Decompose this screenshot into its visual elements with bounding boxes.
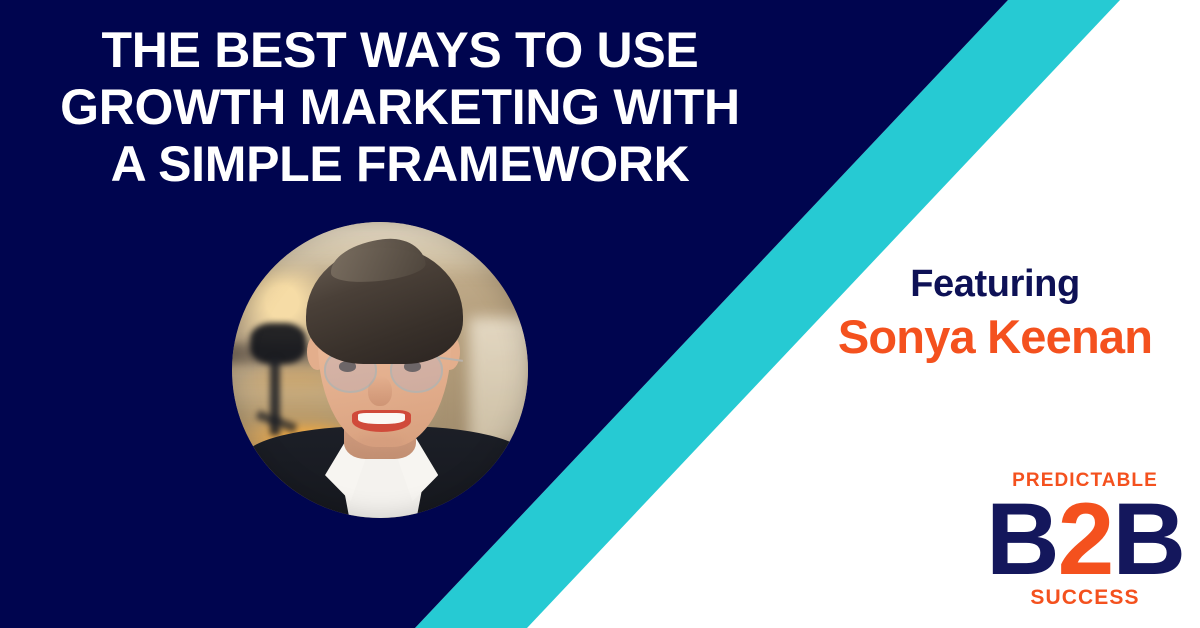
brand-logo: PREDICTABLE B2B SUCCESS xyxy=(985,470,1185,610)
logo-letter-b-left: B xyxy=(986,482,1058,596)
title-line-3: A SIMPLE FRAMEWORK xyxy=(0,136,800,193)
avatar-vignette xyxy=(232,222,528,518)
title-line-1: THE BEST WAYS TO USE xyxy=(0,22,800,79)
page-title: THE BEST WAYS TO USE GROWTH MARKETING WI… xyxy=(0,22,800,193)
featuring-label: Featuring xyxy=(800,262,1190,306)
speaker-avatar xyxy=(232,222,528,518)
logo-b2b: B2B xyxy=(985,492,1185,586)
promo-banner: THE BEST WAYS TO USE GROWTH MARKETING WI… xyxy=(0,0,1200,628)
speaker-name: Sonya Keenan xyxy=(800,306,1190,368)
avatar-photo-background xyxy=(232,222,528,518)
title-line-2: GROWTH MARKETING WITH xyxy=(0,79,800,136)
logo-digit-2: 2 xyxy=(1058,482,1113,596)
speaker-credit: Featuring Sonya Keenan xyxy=(800,262,1190,368)
logo-letter-b-right: B xyxy=(1112,482,1184,596)
